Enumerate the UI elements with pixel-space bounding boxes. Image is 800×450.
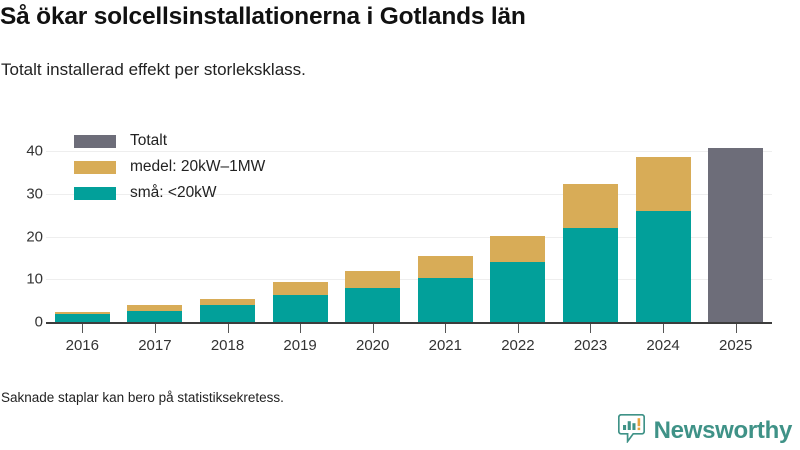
legend-item[interactable]: Totalt xyxy=(74,128,265,154)
x-axis-tick-label: 2017 xyxy=(120,337,190,354)
y-axis-tick-label: 0 xyxy=(0,314,43,331)
bar-segment xyxy=(708,148,763,322)
y-axis-tick-label: 10 xyxy=(0,271,43,288)
x-axis-tick-mark xyxy=(82,324,83,333)
brand-name: Newsworthy xyxy=(654,417,792,445)
y-axis-tick-label: 40 xyxy=(0,143,43,160)
y-axis-tick-label: 20 xyxy=(0,228,43,245)
y-axis-tick-label: 30 xyxy=(0,185,43,202)
bar-segment xyxy=(200,305,255,322)
bar-segment xyxy=(55,314,110,322)
legend-item[interactable]: små: <20kW xyxy=(74,180,265,206)
bar-segment xyxy=(636,157,691,211)
x-axis-tick-mark xyxy=(300,324,301,333)
legend-swatch-icon xyxy=(74,135,116,148)
x-axis-tick-label: 2023 xyxy=(556,337,626,354)
bar-segment xyxy=(55,312,110,314)
legend-item-label: Totalt xyxy=(130,132,167,150)
bar-segment xyxy=(127,305,182,311)
bar-chart-plot: 010203040 201620172018201920202021202220… xyxy=(0,0,800,450)
bar-segment xyxy=(127,311,182,322)
newsworthy-bubble-chart-icon xyxy=(618,414,645,448)
x-axis-tick-label: 2024 xyxy=(628,337,698,354)
bar-segment xyxy=(345,288,400,322)
bar-segment xyxy=(418,278,473,322)
x-axis-tick-mark xyxy=(518,324,519,333)
bar-segment xyxy=(636,211,691,322)
x-axis-tick-mark xyxy=(228,324,229,333)
chart-page: Så ökar solcellsinstallationerna i Gotla… xyxy=(0,0,800,450)
bar-segment xyxy=(490,236,545,262)
x-axis-tick-label: 2016 xyxy=(47,337,117,354)
brand-logo[interactable]: Newsworthy xyxy=(618,414,792,448)
bar-segment xyxy=(490,262,545,322)
x-axis-tick-mark xyxy=(663,324,664,333)
footnote: Saknade staplar kan bero på statistiksek… xyxy=(1,390,284,405)
bar-segment xyxy=(273,295,328,322)
bar-segment xyxy=(563,228,618,322)
x-axis-tick-mark xyxy=(155,324,156,333)
x-axis-tick-label: 2020 xyxy=(338,337,408,354)
x-axis-tick-mark xyxy=(736,324,737,333)
bar-segment xyxy=(200,299,255,305)
legend-item-label: små: <20kW xyxy=(130,184,217,202)
legend-swatch-icon xyxy=(74,161,116,174)
x-axis-tick-mark xyxy=(590,324,591,333)
bar-segment xyxy=(273,282,328,295)
x-axis-tick-label: 2025 xyxy=(701,337,771,354)
bar-segment xyxy=(418,256,473,278)
x-axis-tick-label: 2018 xyxy=(193,337,263,354)
x-axis-tick-label: 2021 xyxy=(410,337,480,354)
bar-segment xyxy=(345,271,400,288)
x-axis-tick-label: 2019 xyxy=(265,337,335,354)
legend-item-label: medel: 20kW–1MW xyxy=(130,158,265,176)
x-axis-tick-mark xyxy=(373,324,374,333)
x-axis-tick-mark xyxy=(445,324,446,333)
chart-legend: Totaltmedel: 20kW–1MWsmå: <20kW xyxy=(74,128,265,206)
legend-item[interactable]: medel: 20kW–1MW xyxy=(74,154,265,180)
bar-segment xyxy=(563,184,618,228)
x-axis-tick-label: 2022 xyxy=(483,337,553,354)
legend-swatch-icon xyxy=(74,187,116,200)
